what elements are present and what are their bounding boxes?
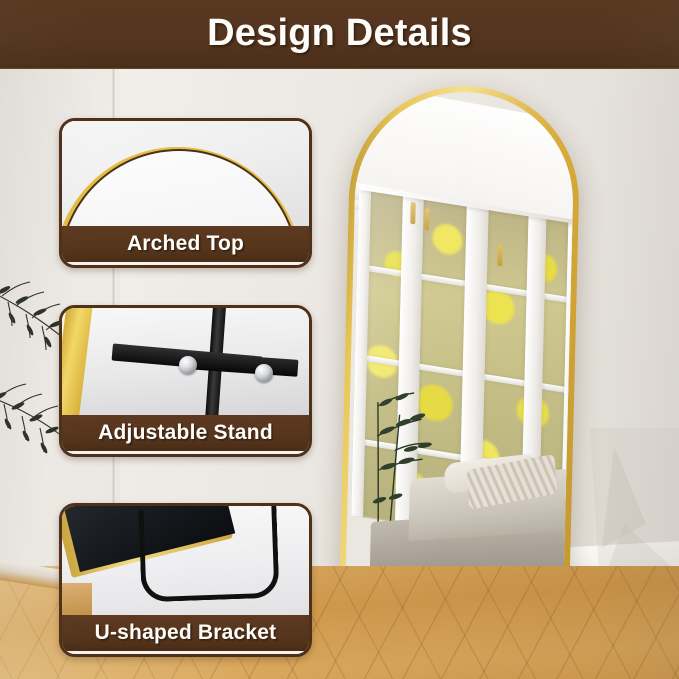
header-banner: Design Details (0, 0, 679, 66)
feature-label-u-shaped-bracket: U-shaped Bracket (62, 615, 309, 651)
feature-card-arched-top[interactable]: Arched Top (59, 118, 312, 268)
feature-card-adjustable-stand[interactable]: Adjustable Stand (59, 305, 312, 457)
feature-label-arched-top: Arched Top (62, 226, 309, 262)
page-title: Design Details (207, 14, 472, 52)
header-banner-rule (0, 66, 679, 69)
stand-bolt-right (255, 364, 273, 382)
feature-card-u-shaped-bracket[interactable]: U-shaped Bracket (59, 503, 312, 657)
card-floor-strip (62, 583, 92, 615)
product-infographic: Design Details Arched Top Adjustable Sta… (0, 0, 679, 679)
stand-bolt-left (179, 356, 197, 374)
u-shaped-bracket (138, 506, 279, 602)
feature-photo-arched-top (62, 121, 309, 226)
feature-photo-adjustable-stand (62, 308, 309, 415)
feature-label-adjustable-stand: Adjustable Stand (62, 415, 309, 451)
feature-photo-u-shaped-bracket (62, 506, 309, 615)
